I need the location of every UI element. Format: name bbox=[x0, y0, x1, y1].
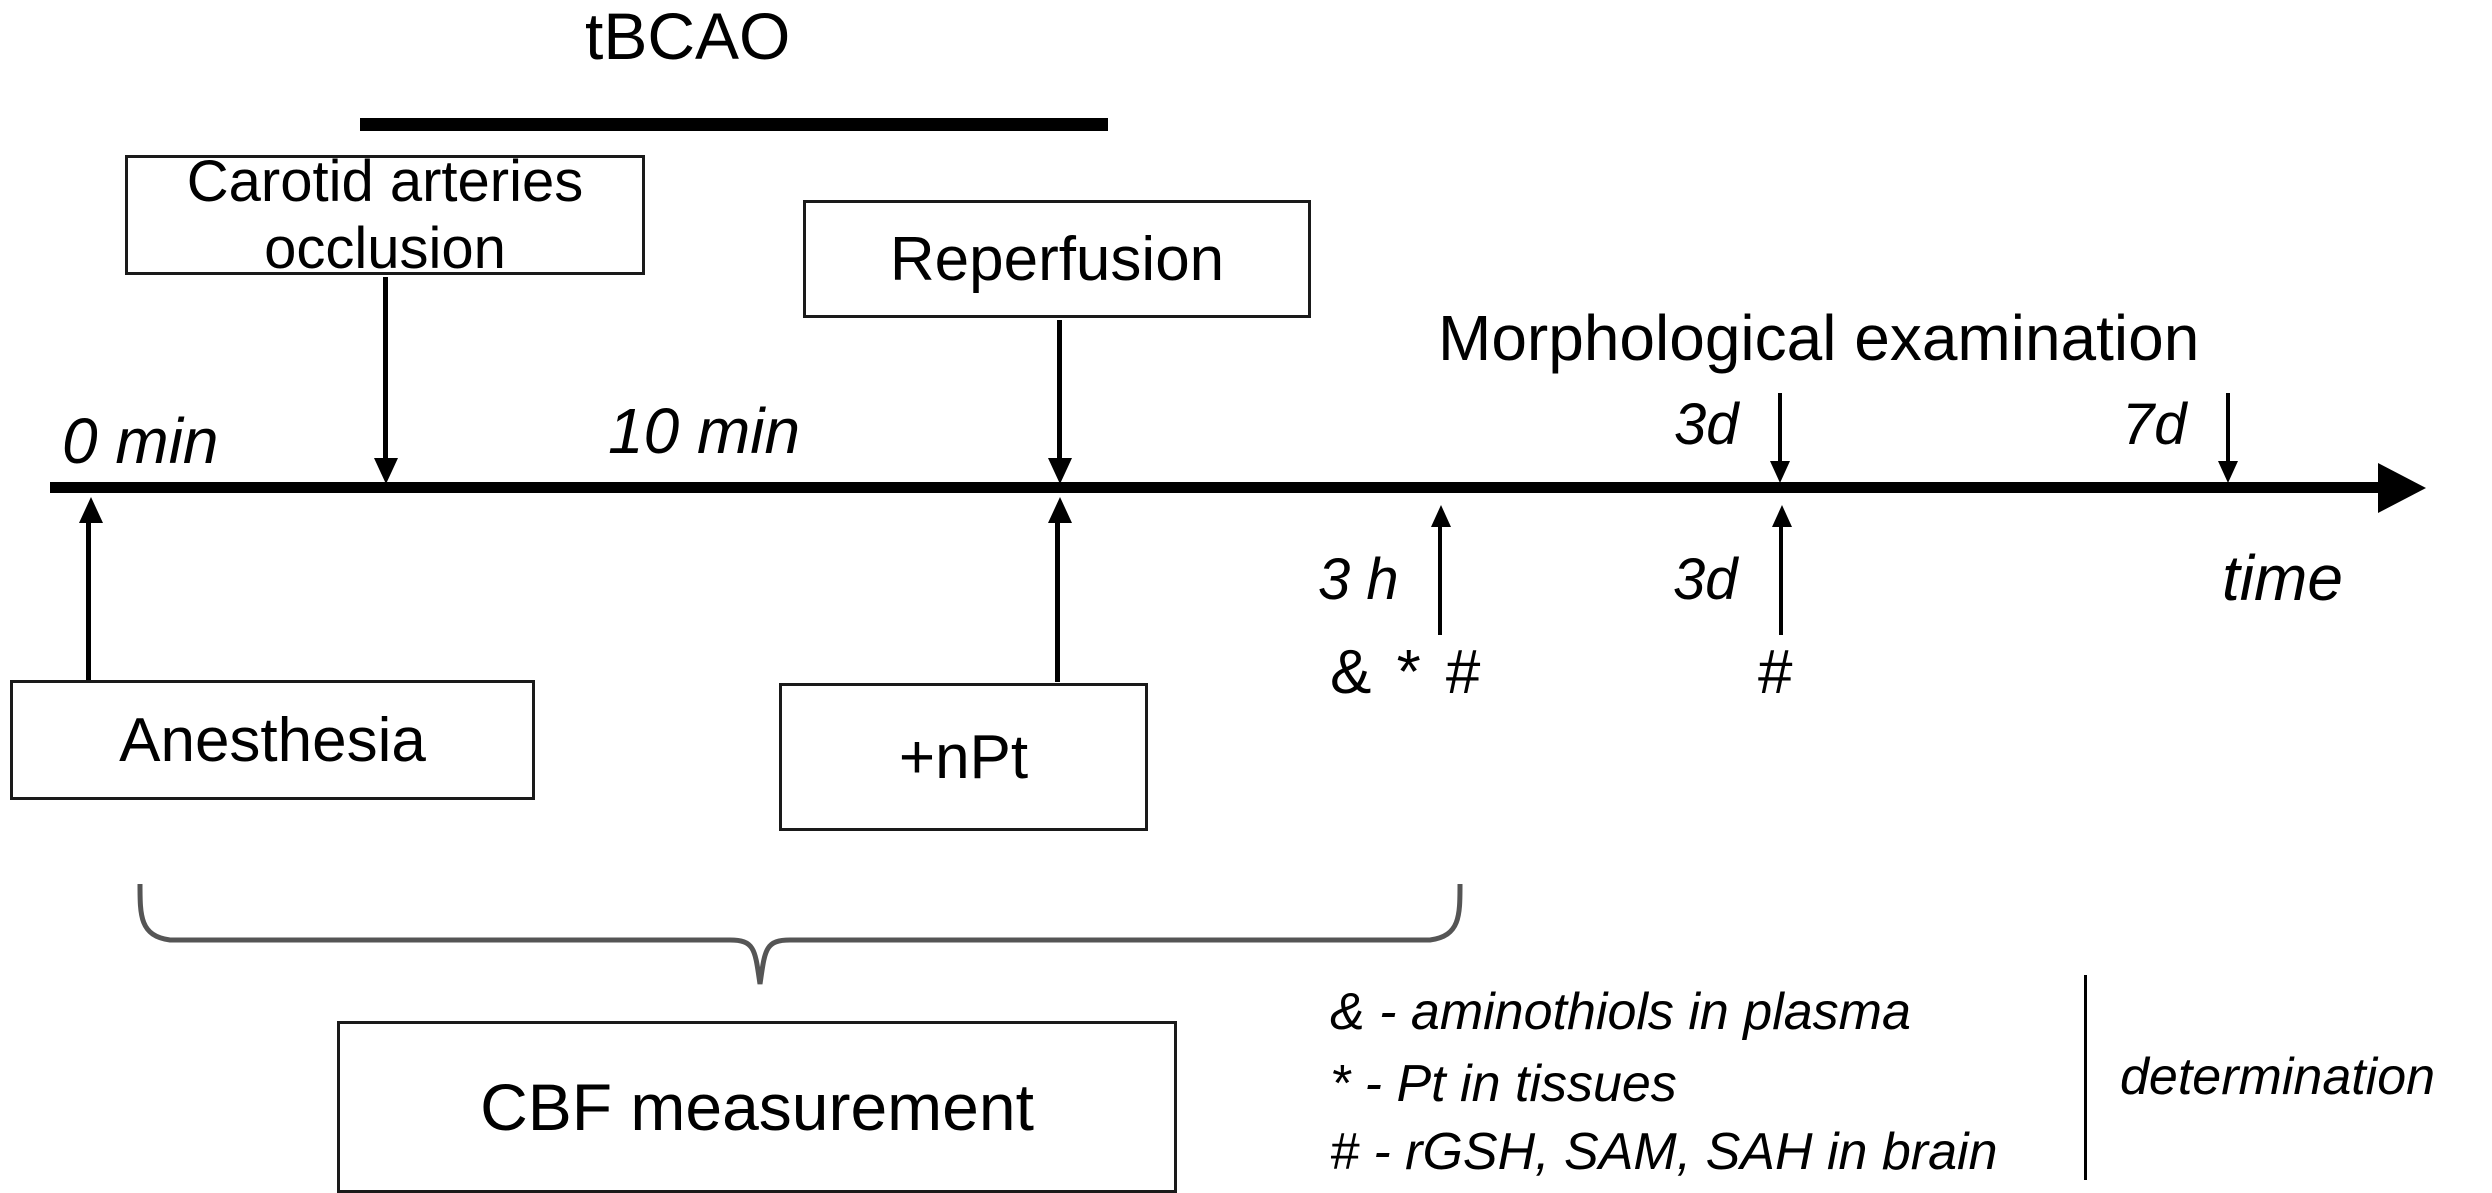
cbf-measurement-brace bbox=[130, 880, 1490, 1020]
experimental-timeline-figure: tBCAO Carotid arteries occlusion Reperfu… bbox=[0, 0, 2492, 1193]
legend-item-pt-tissues: * - Pt in tissues bbox=[1330, 1057, 1677, 1112]
morph-3d-time-label: 3d bbox=[1674, 395, 1739, 456]
legend-group-label-determination: determination bbox=[2120, 1050, 2435, 1105]
sample-3h-time-label: 3 h bbox=[1318, 550, 1399, 611]
morph-7d-arrow-shaft bbox=[2226, 393, 2230, 465]
npt-arrow-head-icon bbox=[1048, 497, 1072, 523]
morphological-examination-label: Morphological examination bbox=[1438, 305, 2199, 372]
tbcao-duration-bar bbox=[360, 118, 1108, 131]
time-label-10min: 10 min bbox=[608, 398, 800, 465]
morph-3d-arrow-head-icon bbox=[1770, 461, 1790, 483]
legend-item-rgsh-sam-sah: # - rGSH, SAM, SAH in brain bbox=[1330, 1125, 1998, 1180]
timeline-axis bbox=[50, 482, 2380, 493]
event-box-anesthesia[interactable]: Anesthesia bbox=[10, 680, 535, 800]
carotid-occlusion-arrow-shaft bbox=[383, 277, 388, 462]
timeline-arrowhead-icon bbox=[2378, 463, 2426, 513]
legend-item-aminothiols: & - aminothiols in plasma bbox=[1330, 985, 1911, 1040]
morph-7d-time-label: 7d bbox=[2122, 395, 2187, 456]
sample-3h-arrow-head-icon bbox=[1431, 505, 1451, 527]
morph-3d-arrow-shaft bbox=[1778, 393, 1782, 465]
cbf-measurement-label: CBF measurement bbox=[480, 1069, 1034, 1145]
sample-3h-markers: & * # bbox=[1330, 640, 1484, 705]
sample-3d-markers: # bbox=[1758, 640, 1792, 705]
reperfusion-arrow-shaft bbox=[1057, 320, 1062, 462]
anesthesia-arrow-shaft bbox=[86, 520, 91, 682]
anesthesia-arrow-head-icon bbox=[79, 497, 103, 523]
time-label-0min: 0 min bbox=[62, 408, 219, 475]
tbcao-label: tBCAO bbox=[585, 2, 790, 71]
legend-divider bbox=[2084, 975, 2087, 1180]
event-box-carotid-occlusion[interactable]: Carotid arteries occlusion bbox=[125, 155, 645, 275]
sample-3d-arrow-head-icon bbox=[1772, 505, 1792, 527]
carotid-occlusion-line2: occlusion bbox=[264, 215, 506, 282]
npt-label: +nPt bbox=[899, 722, 1028, 793]
npt-arrow-shaft bbox=[1055, 520, 1060, 682]
sample-3d-time-label: 3d bbox=[1673, 550, 1738, 611]
carotid-occlusion-line1: Carotid arteries bbox=[187, 148, 583, 215]
carotid-occlusion-arrow-head-icon bbox=[374, 458, 398, 484]
morph-7d-arrow-head-icon bbox=[2218, 461, 2238, 483]
reperfusion-arrow-head-icon bbox=[1048, 458, 1072, 484]
event-box-reperfusion[interactable]: Reperfusion bbox=[803, 200, 1311, 318]
sample-3d-arrow-shaft bbox=[1779, 525, 1783, 635]
sample-3h-arrow-shaft bbox=[1438, 525, 1442, 635]
event-box-cbf-measurement[interactable]: CBF measurement bbox=[337, 1021, 1177, 1193]
reperfusion-label: Reperfusion bbox=[890, 224, 1224, 295]
event-box-npt[interactable]: +nPt bbox=[779, 683, 1148, 831]
axis-end-label-time: time bbox=[2222, 545, 2343, 612]
anesthesia-label: Anesthesia bbox=[119, 705, 426, 776]
